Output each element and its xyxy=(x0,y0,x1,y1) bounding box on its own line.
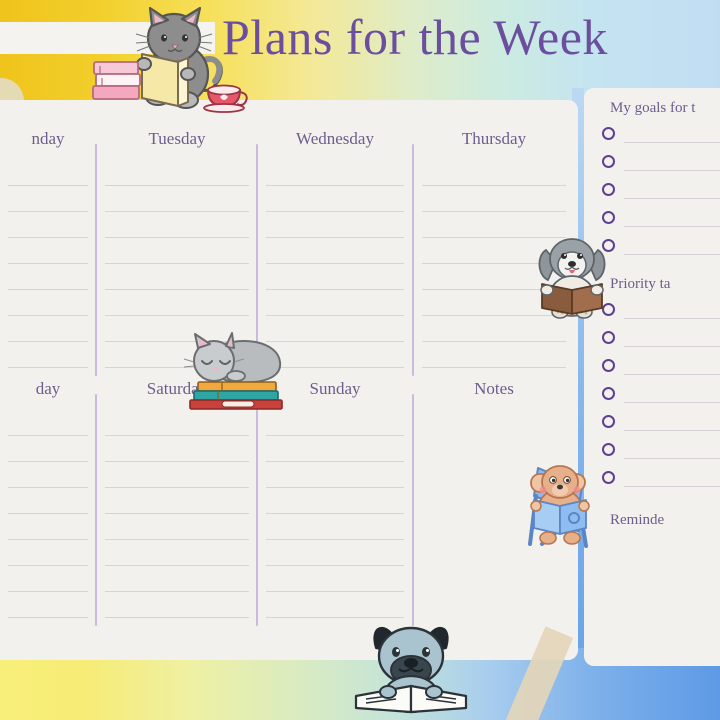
priority-list-item[interactable] xyxy=(584,438,720,466)
day-column-sunday[interactable]: Sunday xyxy=(258,376,412,626)
write-line[interactable] xyxy=(624,458,720,459)
day-label-friday: day xyxy=(0,376,96,402)
checkbox-circle-icon[interactable] xyxy=(602,127,615,140)
write-line[interactable] xyxy=(624,374,720,375)
write-line[interactable] xyxy=(624,198,720,199)
day-lines-sunday[interactable] xyxy=(266,410,404,622)
goals-list-item[interactable] xyxy=(584,150,720,178)
write-line[interactable] xyxy=(624,346,720,347)
checkbox-circle-icon[interactable] xyxy=(602,211,615,224)
checkbox-circle-icon[interactable] xyxy=(602,155,615,168)
page-title: Plans for the Week xyxy=(222,6,608,68)
day-column-monday[interactable]: nday xyxy=(0,126,96,376)
goals-list-item[interactable] xyxy=(584,122,720,150)
write-line[interactable] xyxy=(624,254,720,255)
day-label-wednesday: Wednesday xyxy=(258,126,412,152)
checkbox-circle-icon[interactable] xyxy=(602,415,615,428)
priority-list-item[interactable] xyxy=(584,326,720,354)
day-lines-saturday[interactable] xyxy=(105,410,249,622)
day-lines-friday[interactable] xyxy=(8,410,88,622)
reminders-writing-area[interactable] xyxy=(584,534,720,644)
dog-beach-chair-sticker xyxy=(520,452,598,552)
priority-list-item[interactable] xyxy=(584,466,720,494)
day-column-saturday[interactable]: Saturday xyxy=(97,376,257,626)
write-line[interactable] xyxy=(624,226,720,227)
priority-list-item[interactable] xyxy=(584,354,720,382)
write-line[interactable] xyxy=(624,318,720,319)
day-label-thursday: Thursday xyxy=(414,126,574,152)
day-lines-monday[interactable] xyxy=(8,160,88,372)
checkbox-circle-icon[interactable] xyxy=(602,359,615,372)
write-line[interactable] xyxy=(624,142,720,143)
cat-reading-book-sticker xyxy=(92,2,252,117)
checkbox-circle-icon[interactable] xyxy=(602,443,615,456)
priority-list-item[interactable] xyxy=(584,382,720,410)
day-label-monday: nday xyxy=(0,126,96,152)
priority-list-item[interactable] xyxy=(584,410,720,438)
goals-list-item[interactable] xyxy=(584,206,720,234)
write-line[interactable] xyxy=(624,402,720,403)
weekly-planner-page: th Plans for the Week nday Tuesday Wedne… xyxy=(0,0,720,720)
dog-reading-book-sticker xyxy=(536,234,608,320)
reminders-title: Reminde xyxy=(584,508,720,532)
priority-tasks-list xyxy=(584,298,720,494)
write-line[interactable] xyxy=(624,430,720,431)
checkbox-circle-icon[interactable] xyxy=(602,183,615,196)
goals-title: My goals for t xyxy=(584,96,720,120)
month-label: th xyxy=(0,22,50,54)
checkbox-circle-icon[interactable] xyxy=(602,471,615,484)
week-row-bottom: day Saturday Sunday Notes xyxy=(0,376,578,626)
cat-sleeping-books-sticker xyxy=(182,332,294,410)
checkbox-circle-icon[interactable] xyxy=(602,331,615,344)
notes-label: Notes xyxy=(414,376,574,402)
day-column-friday[interactable]: day xyxy=(0,376,96,626)
write-line[interactable] xyxy=(624,170,720,171)
day-label-tuesday: Tuesday xyxy=(97,126,257,152)
checkbox-circle-icon[interactable] xyxy=(602,387,615,400)
goals-list-item[interactable] xyxy=(584,178,720,206)
write-line[interactable] xyxy=(624,486,720,487)
reminders-section: Reminde xyxy=(584,508,720,644)
bulldog-reading-sticker xyxy=(352,620,470,716)
